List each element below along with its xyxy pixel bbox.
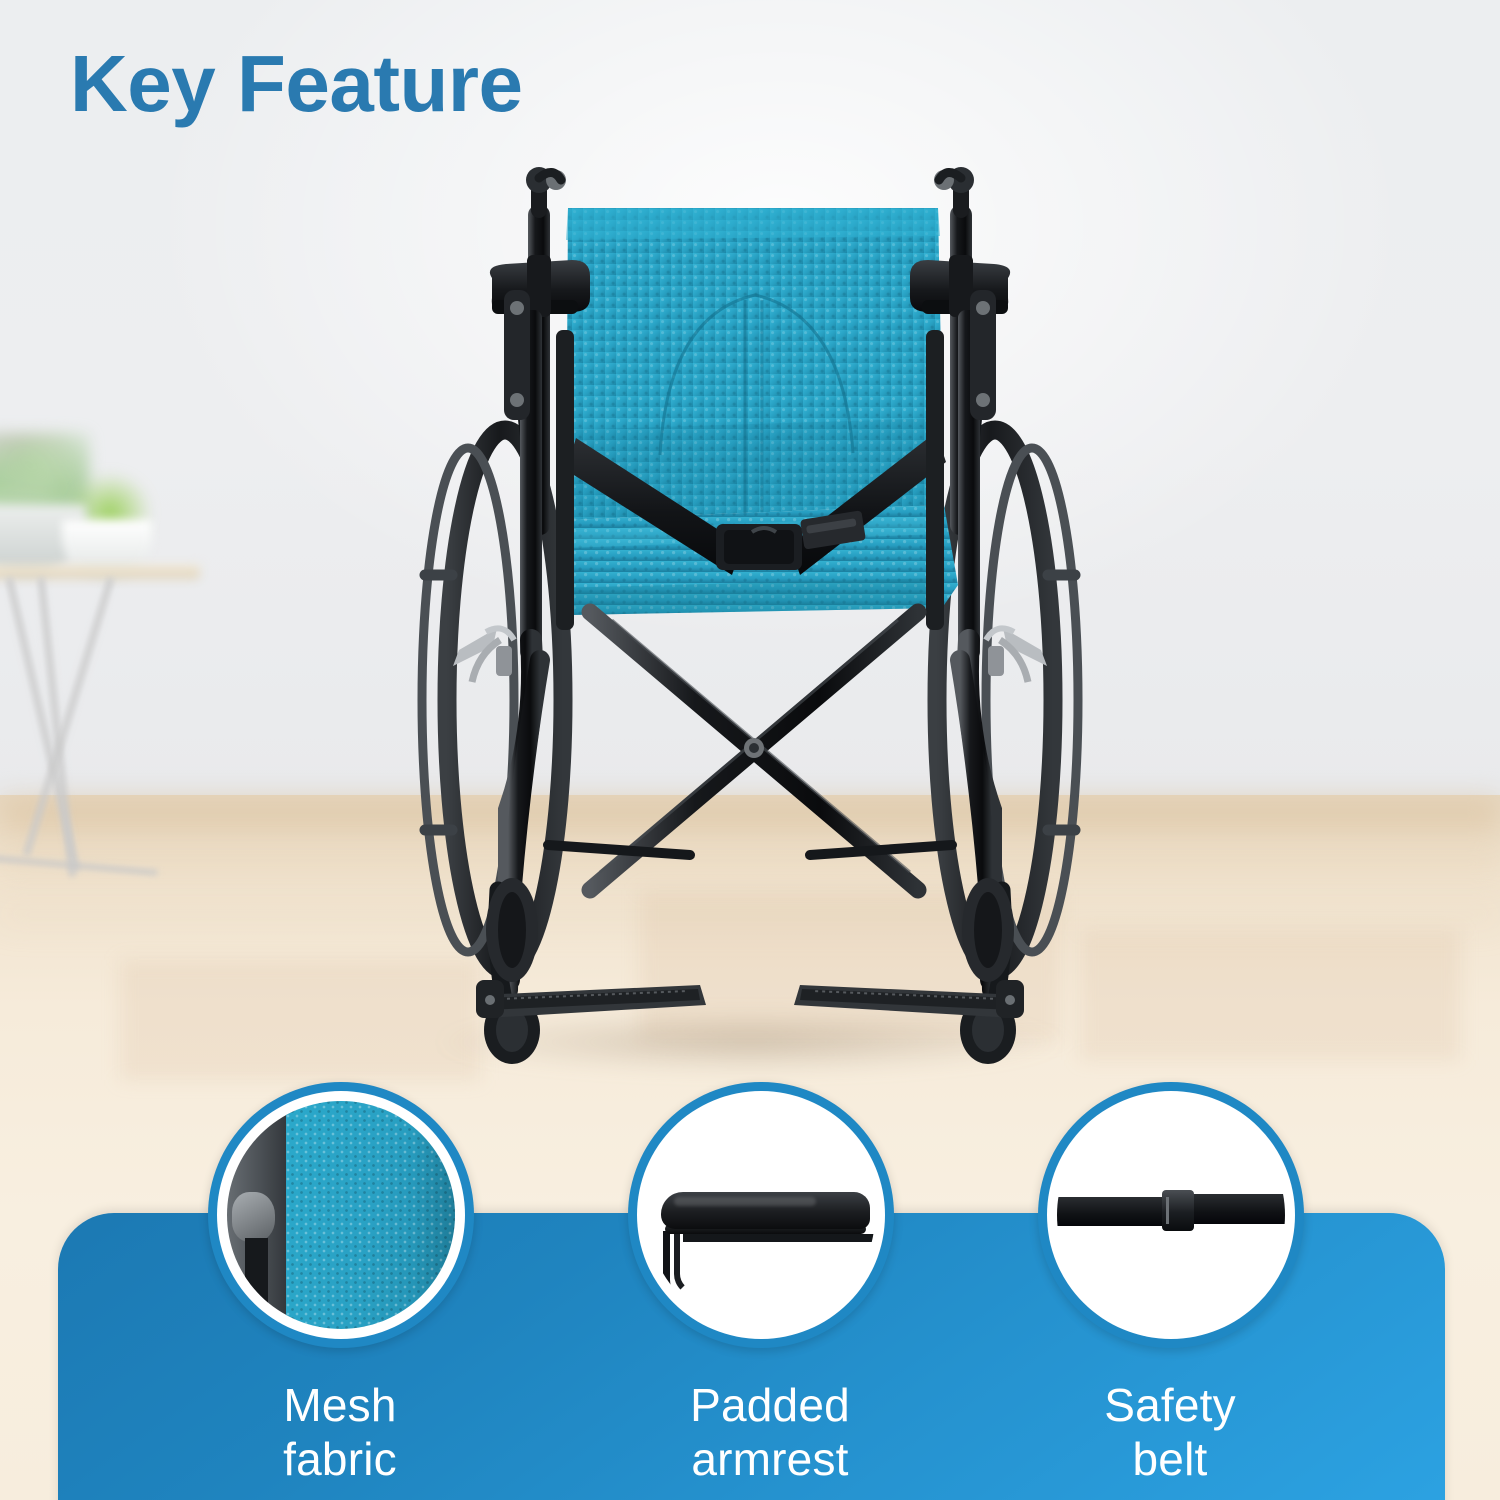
callout-white-ring: [1047, 1091, 1295, 1339]
armrest-highlight: [674, 1197, 815, 1206]
wheelchair-product-image: [0, 0, 1500, 1120]
feature-label-padded-armrest: Padded armrest: [610, 1378, 930, 1487]
page-title: Key Feature: [70, 38, 522, 130]
lower-rail-right: [810, 845, 952, 855]
safety-belt-photo-icon: [1057, 1101, 1285, 1329]
feature-callout-mesh-fabric[interactable]: [208, 1082, 474, 1348]
feature-label-safety-belt: Safety belt: [1030, 1378, 1310, 1487]
brake-lever-right: [986, 628, 1047, 682]
belt-buckle-slot: [1166, 1197, 1169, 1224]
mesh-texture: [286, 1101, 455, 1329]
callout-white-ring: [637, 1091, 885, 1339]
mesh-fabric-photo-icon: [227, 1101, 455, 1329]
callout-white-ring: [217, 1091, 465, 1339]
padded-armrest-photo-icon: [647, 1101, 875, 1329]
feature-callout-padded-armrest[interactable]: [628, 1082, 894, 1348]
armrest-tube-detail: [674, 1231, 701, 1296]
feature-label-mesh-fabric: Mesh fabric: [200, 1378, 480, 1487]
brake-lever-left: [453, 628, 514, 682]
frame-bar-detail: [245, 1238, 268, 1329]
mesh-shading: [412, 1101, 455, 1329]
belt-strap-left: [1057, 1197, 1171, 1227]
feature-callout-safety-belt[interactable]: [1038, 1082, 1304, 1348]
key-feature-poster: Mesh fabric Padded armrest Safety belt K…: [0, 0, 1500, 1500]
frame-knob-detail: [232, 1192, 275, 1242]
armrest-rail-detail: [683, 1234, 875, 1241]
lower-rail-left: [548, 845, 690, 855]
